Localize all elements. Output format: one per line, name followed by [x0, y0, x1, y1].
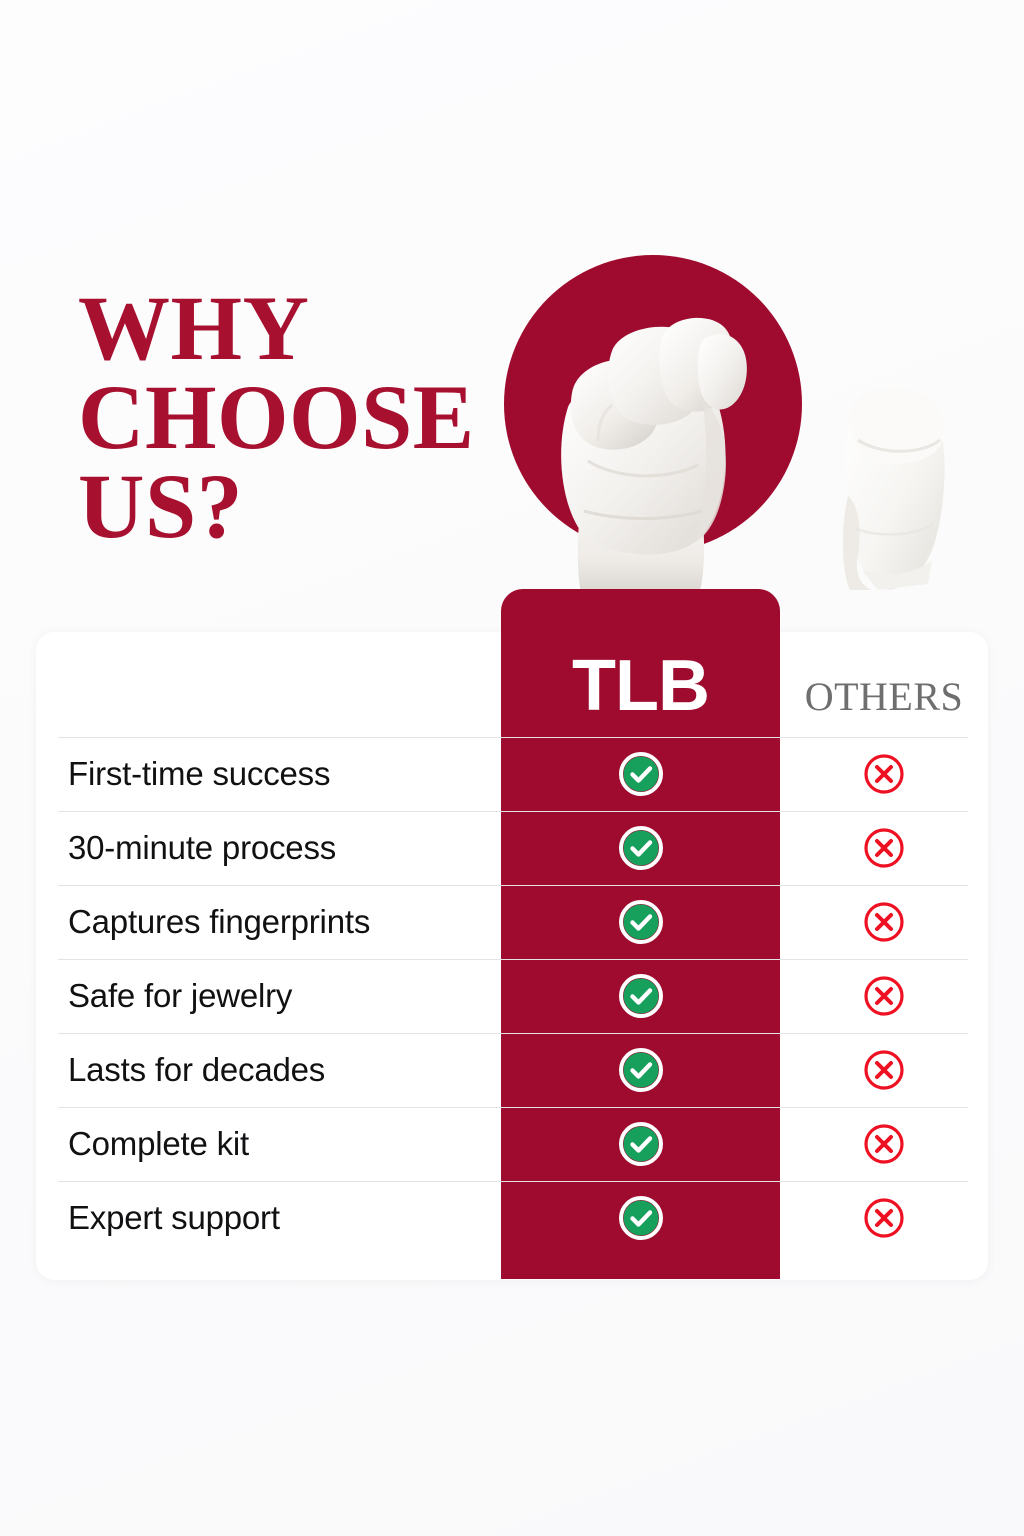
tlb-cell — [501, 1048, 780, 1092]
table-row: Expert support — [36, 1186, 988, 1250]
page-title: WHY CHOOSE US? — [78, 284, 488, 552]
row-separator — [58, 1033, 968, 1034]
table-row: Captures fingerprints — [36, 890, 988, 954]
table-row: 30-minute process — [36, 816, 988, 880]
tlb-cell — [501, 1196, 780, 1240]
row-separator — [58, 1181, 968, 1182]
check-icon — [619, 900, 663, 944]
cross-icon — [862, 974, 906, 1018]
others-cell — [780, 1048, 988, 1092]
feature-label: 30-minute process — [68, 829, 498, 867]
others-cell — [780, 974, 988, 1018]
others-cell — [780, 826, 988, 870]
others-cell — [780, 752, 988, 796]
others-cell — [780, 1196, 988, 1240]
page-title-line-1: WHY — [78, 284, 488, 373]
plaster-fist-cast-secondary-image — [828, 378, 970, 593]
row-separator — [58, 737, 968, 738]
feature-label: Complete kit — [68, 1125, 498, 1163]
feature-label: First-time success — [68, 755, 498, 793]
cross-icon — [862, 826, 906, 870]
table-row: Complete kit — [36, 1112, 988, 1176]
tlb-cell — [501, 1122, 780, 1166]
cross-icon — [862, 1196, 906, 1240]
cross-icon — [862, 900, 906, 944]
check-icon — [619, 1196, 663, 1240]
check-icon — [619, 826, 663, 870]
page-title-line-3: US? — [78, 462, 488, 551]
others-cell — [780, 900, 988, 944]
cross-icon — [862, 1048, 906, 1092]
cross-icon — [862, 1122, 906, 1166]
row-separator — [58, 885, 968, 886]
row-separator — [58, 811, 968, 812]
row-separator — [58, 959, 968, 960]
table-row: Safe for jewelry — [36, 964, 988, 1028]
hero-artwork — [480, 230, 1010, 610]
tlb-cell — [501, 900, 780, 944]
row-separator — [58, 1107, 968, 1108]
cross-icon — [862, 752, 906, 796]
check-icon — [619, 1048, 663, 1092]
check-icon — [619, 974, 663, 1018]
column-header-others: OTHERS — [780, 677, 988, 717]
column-header-tlb: TLB — [501, 650, 780, 722]
feature-label: Expert support — [68, 1199, 498, 1237]
feature-label: Safe for jewelry — [68, 977, 498, 1015]
check-icon — [619, 1122, 663, 1166]
others-cell — [780, 1122, 988, 1166]
feature-label: Lasts for decades — [68, 1051, 498, 1089]
tlb-cell — [501, 752, 780, 796]
feature-label: Captures fingerprints — [68, 903, 498, 941]
page-title-line-2: CHOOSE — [78, 373, 488, 462]
table-row: First-time success — [36, 742, 988, 806]
plaster-fist-cast-primary-image — [516, 275, 796, 605]
check-icon — [619, 752, 663, 796]
comparison-table: TLB OTHERS First-time success — [36, 632, 988, 1280]
tlb-cell — [501, 826, 780, 870]
poster-canvas: WHY CHOOSE US? — [0, 0, 1024, 1536]
tlb-cell — [501, 974, 780, 1018]
table-row: Lasts for decades — [36, 1038, 988, 1102]
